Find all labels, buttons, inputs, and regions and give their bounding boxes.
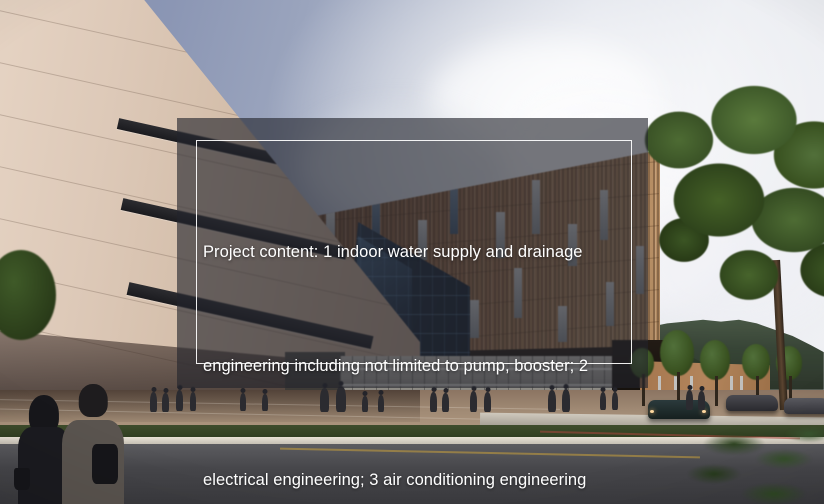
info-line-2: engineering including not limited to pum…: [203, 347, 627, 385]
handbag: [14, 468, 30, 490]
pedestrian: [162, 393, 169, 412]
pedestrian-head: [687, 385, 692, 390]
shoulder-bag: [92, 444, 118, 484]
car: [726, 395, 778, 411]
foreground-shrub: [674, 404, 824, 504]
car-taillight: [702, 410, 706, 413]
pedestrian-head: [151, 387, 156, 392]
project-info-text: Project content: 1 indoor water supply a…: [203, 157, 627, 504]
car: [784, 398, 824, 414]
scene-canvas: Project content: 1 indoor water supply a…: [0, 0, 824, 504]
info-line-1: Project content: 1 indoor water supply a…: [203, 233, 627, 271]
pedestrian-head: [699, 386, 704, 391]
foreground-tree-canopy: [624, 80, 824, 360]
car-headlight: [650, 410, 654, 413]
info-line-3: electrical engineering; 3 air conditioni…: [203, 461, 627, 499]
pedestrian: [176, 390, 183, 411]
pedestrian: [686, 390, 693, 410]
pedestrian: [150, 392, 157, 412]
pedestrian: [698, 391, 705, 410]
pedestrian-head: [163, 388, 168, 393]
mid-tree-trunk: [715, 376, 718, 406]
pedestrian: [190, 392, 196, 411]
